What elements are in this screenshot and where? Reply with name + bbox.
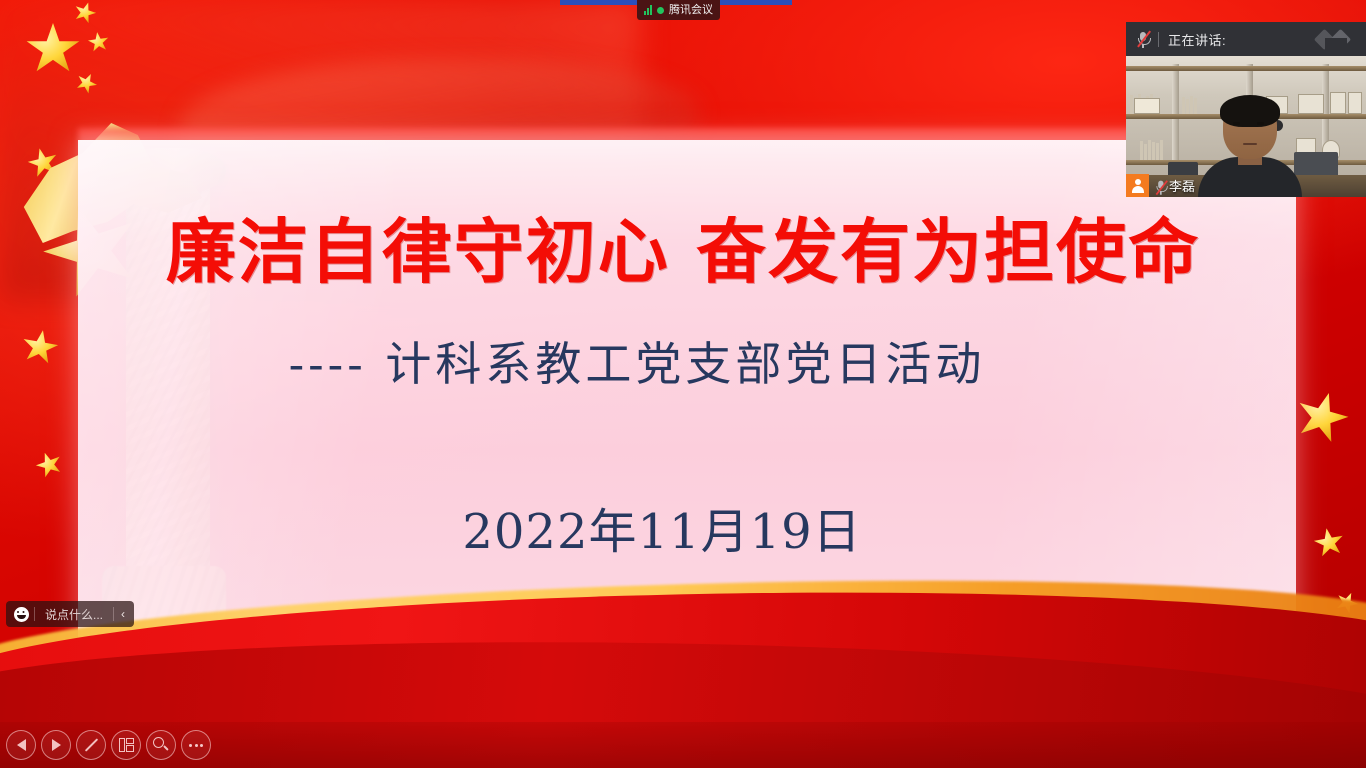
prev-slide-button[interactable] — [6, 730, 36, 760]
chat-input-placeholder[interactable]: 说点什么... — [35, 606, 113, 623]
shelf-box — [1330, 92, 1346, 114]
shelf-box — [1134, 98, 1160, 114]
books-row — [1140, 140, 1163, 160]
chevron-left-icon[interactable]: ‹ — [114, 601, 132, 627]
video-feed: 李磊 — [1126, 56, 1366, 197]
participant-video-person — [1198, 101, 1302, 197]
participant-name: 李磊 — [1169, 176, 1195, 195]
triangle-right-icon — [52, 739, 61, 751]
video-panel-header: 正在讲话: — [1126, 22, 1366, 56]
magnifier-icon — [153, 737, 169, 753]
recording-dot-icon — [657, 7, 664, 14]
tencent-meeting-logo-icon — [1315, 29, 1357, 49]
presentation-toolbar — [6, 730, 211, 760]
pen-tool-button[interactable] — [76, 730, 106, 760]
slides-overview-button[interactable] — [111, 730, 141, 760]
next-slide-button[interactable] — [41, 730, 71, 760]
more-options-button[interactable] — [181, 730, 211, 760]
triangle-left-icon — [17, 739, 26, 751]
mic-muted-icon[interactable] — [1135, 30, 1151, 49]
meeting-app-name: 腾讯会议 — [669, 5, 713, 16]
speaking-label: 正在讲话: — [1168, 30, 1226, 49]
books-row — [1182, 96, 1197, 114]
signal-bars-icon — [644, 5, 652, 15]
participant-badge: 李磊 — [1126, 174, 1195, 197]
shelf-box — [1348, 92, 1362, 114]
header-divider — [1158, 32, 1159, 47]
mic-muted-icon — [1154, 179, 1165, 192]
slide-subtitle: ---- 计科系教工党支部党日活动 — [0, 328, 1366, 394]
grid-layout-icon — [119, 738, 134, 752]
ellipsis-icon — [189, 744, 203, 747]
zoom-tool-button[interactable] — [146, 730, 176, 760]
user-avatar-icon — [1126, 174, 1149, 197]
video-panel[interactable]: 正在讲话: — [1126, 22, 1366, 197]
chat-input-bar[interactable]: 说点什么... ‹ — [6, 601, 134, 627]
slide-date: 2022年11月19日 — [0, 492, 1366, 562]
presentation-screen: 廉洁自律守初心 奋发有为担使命 ---- 计科系教工党支部党日活动 2022年1… — [0, 0, 1366, 768]
slide-title: 廉洁自律守初心 奋发有为担使命 — [0, 196, 1366, 297]
emoji-smile-icon[interactable] — [8, 601, 34, 627]
pen-icon — [84, 738, 97, 751]
shelf-board — [1126, 66, 1366, 71]
meeting-status-chip[interactable]: 腾讯会议 — [637, 0, 720, 20]
